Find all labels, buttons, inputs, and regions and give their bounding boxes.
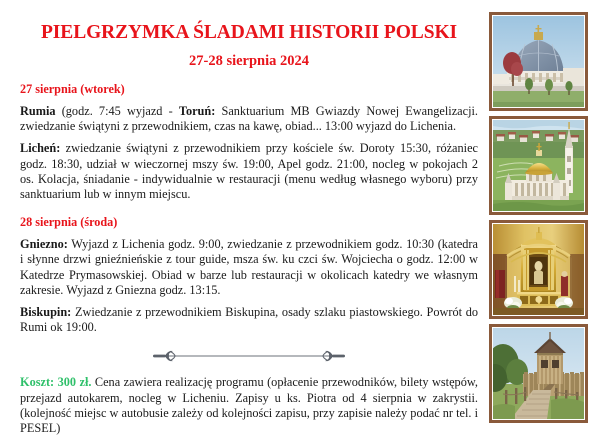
- photo-gniezno-altar: [489, 220, 588, 319]
- entry-rumia-torun: Rumia (godz. 7:45 wyjazd - Toruń: Sanktu…: [20, 104, 478, 134]
- photo-lichen-basilica: [489, 116, 588, 215]
- entry-body-gniezno: Wyjazd z Lichenia godz. 9:00, zwiedzanie…: [20, 237, 478, 297]
- cost-paragraph: Koszt: 300 zł. Cena zawiera realizację p…: [20, 375, 478, 436]
- page-title: PIELGRZYMKA ŚLADAMI HISTORII POLSKI: [20, 22, 478, 44]
- entry-lead-torun: Toruń:: [179, 104, 215, 118]
- page-subtitle: 27-28 sierpnia 2024: [20, 53, 478, 70]
- cost-label: Koszt: 300 zł.: [20, 375, 91, 389]
- entry-body-lichen: zwiedzanie świątyni z przewodnikiem przy…: [20, 141, 478, 201]
- entry-gniezno: Gniezno: Wyjazd z Lichenia godz. 9:00, z…: [20, 237, 478, 298]
- entry-body-biskupin: Zwiedzanie z przewodnikiem Biskupina, os…: [20, 305, 478, 334]
- entry-biskupin: Biskupin: Zwiedzanie z przewodnikiem Bis…: [20, 305, 478, 335]
- entry-lead-biskupin: Biskupin:: [20, 305, 71, 319]
- entry-lead-gniezno: Gniezno:: [20, 237, 68, 251]
- flyer-page: PIELGRZYMKA ŚLADAMI HISTORII POLSKI 27-2…: [0, 0, 600, 419]
- torun-basilica-image: [493, 16, 584, 107]
- section-divider: [20, 347, 478, 365]
- ornamental-rule-icon: [143, 349, 355, 363]
- text-column: PIELGRZYMKA ŚLADAMI HISTORII POLSKI 27-2…: [20, 0, 478, 419]
- entry-mid-rumia: (godz. 7:45 wyjazd -: [56, 104, 179, 118]
- lichen-basilica-image: [493, 120, 584, 211]
- gniezno-altar-image: [493, 224, 584, 315]
- entry-lead-rumia: Rumia: [20, 104, 56, 118]
- entry-lichen: Licheń: zwiedzanie świątyni z przewodnik…: [20, 141, 478, 202]
- biskupin-gate-image: [493, 328, 584, 419]
- photo-biskupin-gate: [489, 324, 588, 423]
- day-heading-2: 28 sierpnia (środa): [20, 215, 478, 230]
- day-heading-1: 27 sierpnia (wtorek): [20, 82, 478, 97]
- photo-torun-basilica: [489, 12, 588, 111]
- entry-lead-lichen: Licheń:: [20, 141, 60, 155]
- photo-strip: [489, 12, 588, 428]
